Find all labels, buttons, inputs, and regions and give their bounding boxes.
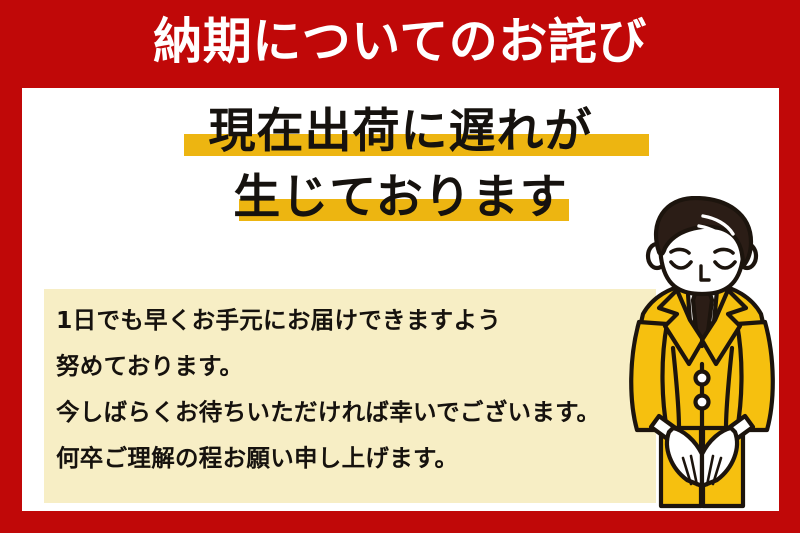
right-sleeve [737,322,773,430]
body-line-3: 今しばらくお待ちいただければ幸いでございます。 [56,389,656,435]
headline-line-1: 現在出荷に遅れが [22,106,779,158]
headline-text-2: 生じております [233,172,568,224]
body-line-4: 何卒ご理解の程お願い申し上げます。 [56,435,656,481]
poster-title: 納期についてのお詫び [0,9,800,75]
frame-left-band [0,0,22,533]
headline-text-1: 現在出荷に遅れが [209,106,593,158]
body-line-2: 努めております。 [56,343,656,389]
left-sleeve [631,322,667,430]
jacket-button-bottom [696,396,709,409]
frame-bottom-band [0,511,800,533]
body-text-block: 1日でも早くお手元にお届けできますよう 努めております。 今しばらくお待ちいただ… [56,297,656,481]
body-line-1: 1日でも早くお手元にお届けできますよう [56,297,656,343]
bowing-businessman-illustration [615,196,790,511]
jacket-button-top [696,372,709,385]
apology-poster: 納期についてのお詫び 現在出荷に遅れが 生じております 1日でも早くお手元にお届… [0,0,800,533]
